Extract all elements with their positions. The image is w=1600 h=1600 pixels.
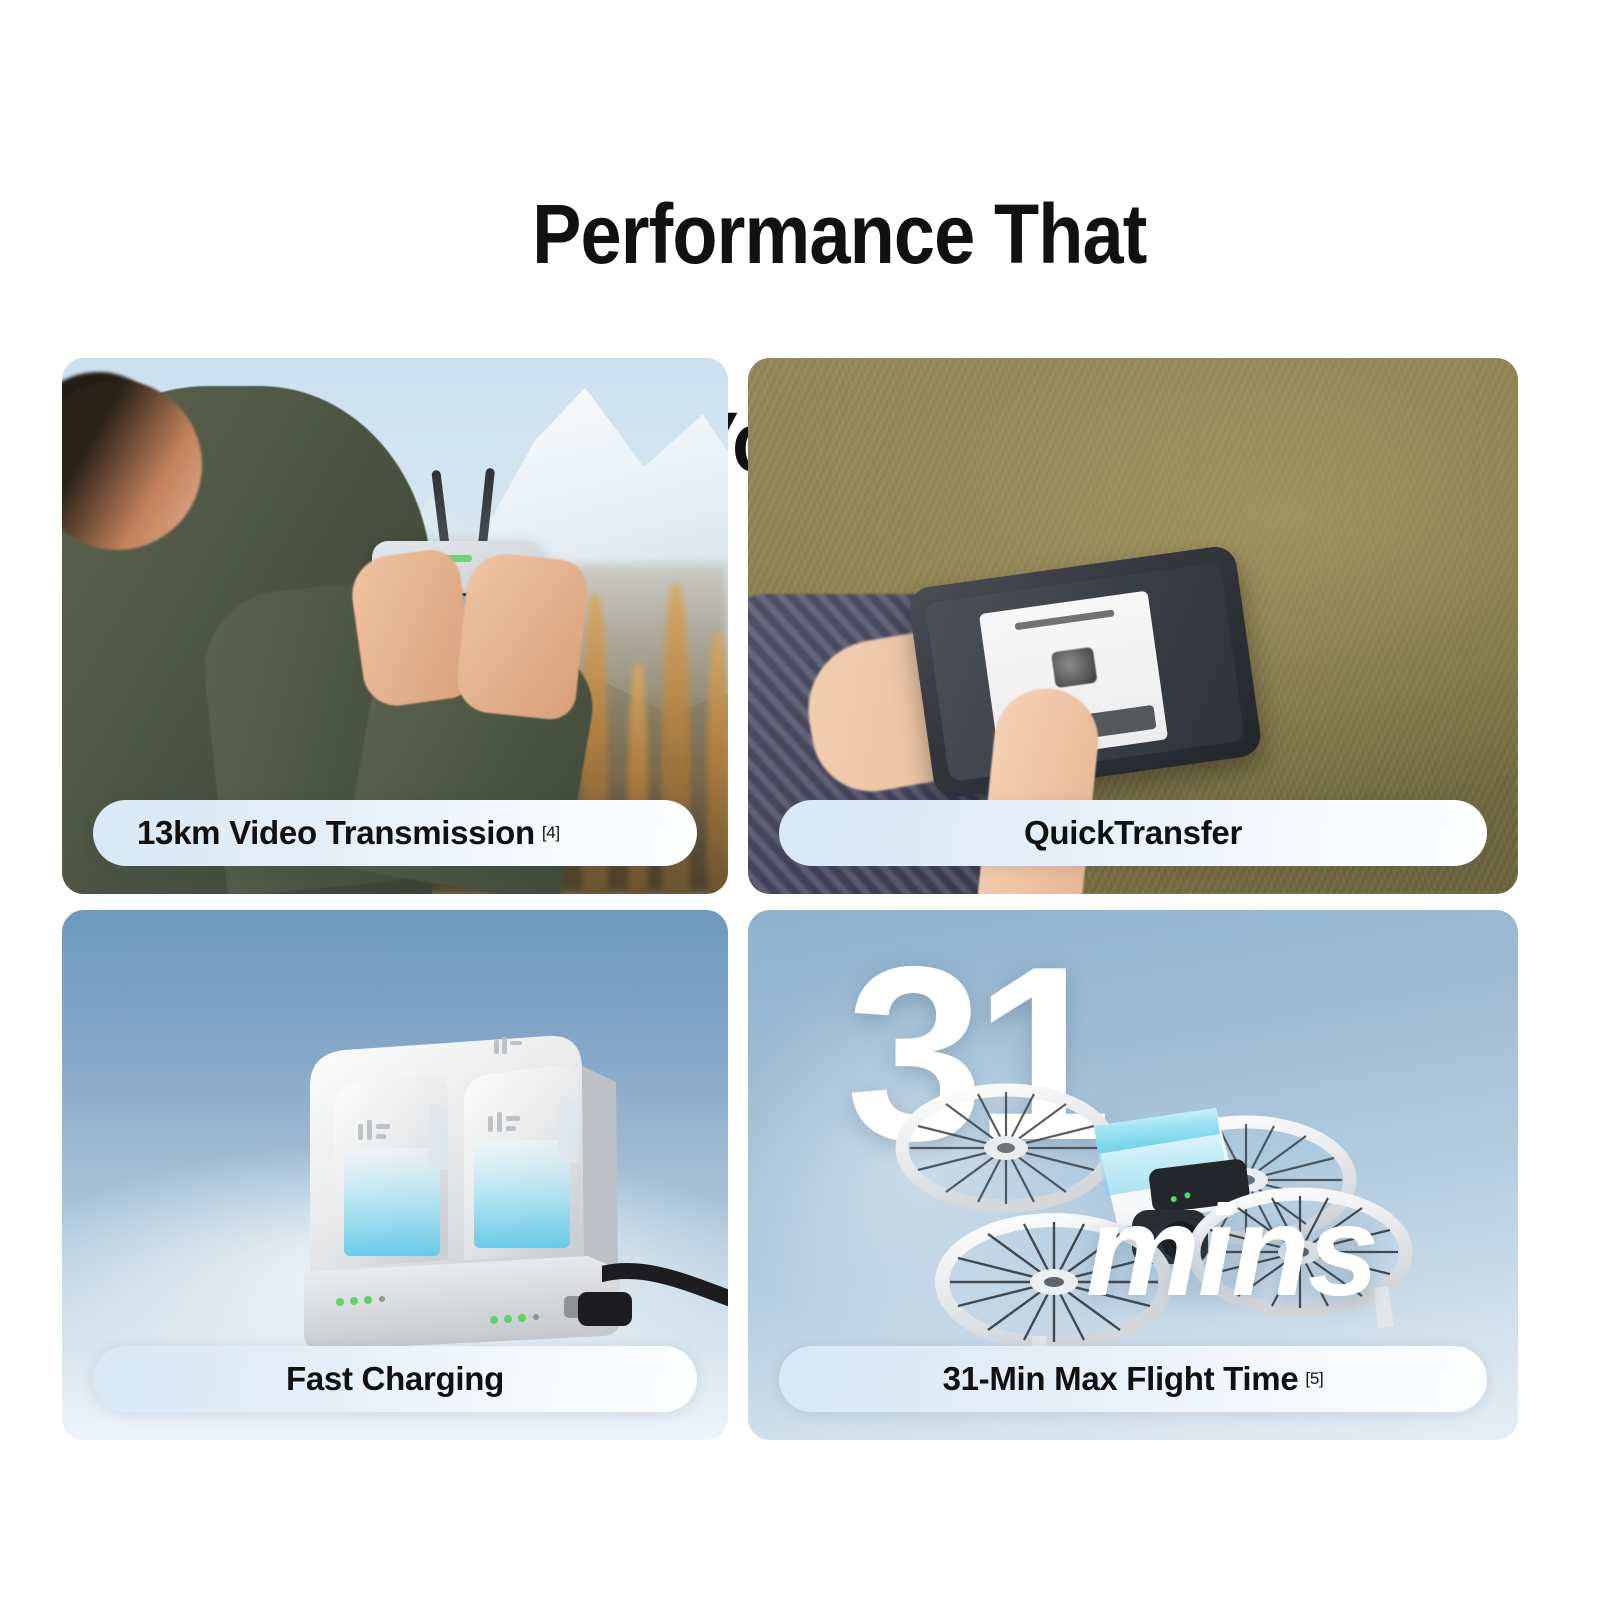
usb-c-cable — [602, 1240, 728, 1350]
caption-label: Fast Charging — [286, 1360, 504, 1398]
caption-pill-fast-charging: Fast Charging — [93, 1346, 697, 1412]
caption-label: 13km Video Transmission — [137, 814, 535, 852]
page-title-line-1: Performance That — [532, 187, 1146, 281]
feature-grid: 13km Video Transmission [4] — [62, 358, 1538, 1450]
dialog-title-placeholder — [1015, 609, 1115, 630]
caption-footnote: [4] — [542, 823, 560, 843]
pilot-right-hand — [454, 550, 590, 722]
panel-fast-charging[interactable]: Fast Charging — [62, 910, 728, 1440]
drone-thumbnail-icon — [1051, 647, 1098, 688]
caption-label: QuickTransfer — [1024, 814, 1242, 852]
caption-footnote: [5] — [1305, 1369, 1323, 1389]
caption-label: 31-Min Max Flight Time — [943, 1360, 1299, 1398]
caption-pill-flight-time: 31-Min Max Flight Time [5] — [779, 1346, 1487, 1412]
charging-hub — [248, 1020, 648, 1350]
flight-time-unit-overlay: mins — [1086, 1178, 1377, 1325]
caption-pill-quicktransfer: QuickTransfer — [779, 800, 1487, 866]
product-feature-page: Performance That Fuels Your Creativity — [0, 0, 1600, 1600]
panel-quicktransfer[interactable]: QuickTransfer — [748, 358, 1518, 894]
pilot-head — [62, 380, 202, 550]
panel-video-transmission[interactable]: 13km Video Transmission [4] — [62, 358, 728, 894]
panel-flight-time[interactable]: 31 — [748, 910, 1518, 1440]
caption-pill-video-transmission: 13km Video Transmission [4] — [93, 800, 697, 866]
